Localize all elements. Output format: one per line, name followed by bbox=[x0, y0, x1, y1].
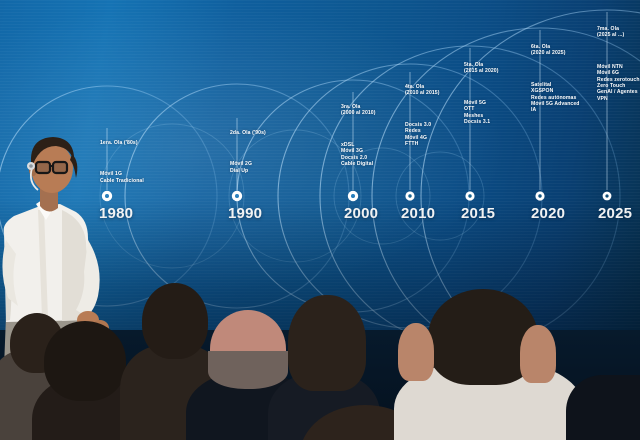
audience-foreground bbox=[0, 255, 640, 440]
wave-title: 6ta. Ola (2020 al 2025) bbox=[531, 44, 580, 57]
audience-member-hand bbox=[398, 323, 434, 381]
audience-member-hand bbox=[520, 325, 556, 383]
year-label-2010: 2010 bbox=[401, 205, 435, 222]
wave-items: Satelital XGSPON Redes autónomas Móvil 5… bbox=[531, 82, 580, 114]
presentation-photo: n os ión a 1era. Ola ('80s) Móvil 1G Cab… bbox=[0, 0, 640, 440]
year-label-2015: 2015 bbox=[461, 205, 495, 222]
year-label-1990: 1990 bbox=[228, 205, 262, 222]
wave-title: 3ra. Ola (2000 al 2010) bbox=[341, 104, 376, 117]
audience-member-head bbox=[44, 321, 126, 401]
wave-items: xDSL Móvil 3G Docsis 2.0 Cable Digital bbox=[341, 142, 376, 168]
wave-title: 4ta. Ola (2010 al 2015) bbox=[405, 84, 440, 97]
wave-items: Móvil 2G Dial Up bbox=[230, 161, 266, 174]
audience-member-head bbox=[288, 295, 366, 391]
wave-title: 2da. Ola ('90s) bbox=[230, 130, 266, 136]
wave-label-5: 5ta. Ola (2015 al 2020) Móvil 5G OTT Mes… bbox=[464, 44, 499, 143]
year-label-2025: 2025 bbox=[598, 205, 632, 222]
wave-title: 5ta. Ola (2015 al 2020) bbox=[464, 62, 499, 75]
wave-label-7: 7ma. Ola (2025 al ...) Móvil NTN Móvil 6… bbox=[597, 8, 640, 120]
audience-member bbox=[566, 375, 640, 440]
wave-items: Móvil 5G OTT Meshes Docsis 3.1 bbox=[464, 100, 499, 126]
wave-items: Docsis 3.0 Redes Móvil 4G FTTH bbox=[405, 122, 440, 148]
wave-label-6: 6ta. Ola (2020 al 2025) Satelital XGSPON… bbox=[531, 26, 580, 132]
year-label-2020: 2020 bbox=[531, 205, 565, 222]
audience-member-hair bbox=[208, 351, 288, 389]
audience-member-head bbox=[142, 283, 208, 359]
wave-title: 7ma. Ola (2025 al ...) bbox=[597, 26, 640, 39]
wave-label-3: 3ra. Ola (2000 al 2010) xDSL Móvil 3G Do… bbox=[341, 86, 376, 185]
wave-items: Móvil NTN Móvil 6G Redes zerotouch Zero … bbox=[597, 64, 640, 102]
wave-label-4: 4ta. Ola (2010 al 2015) Docsis 3.0 Redes… bbox=[405, 66, 440, 165]
wave-label-2: 2da. Ola ('90s) Móvil 2G Dial Up bbox=[230, 112, 266, 192]
year-label-2000: 2000 bbox=[344, 205, 378, 222]
